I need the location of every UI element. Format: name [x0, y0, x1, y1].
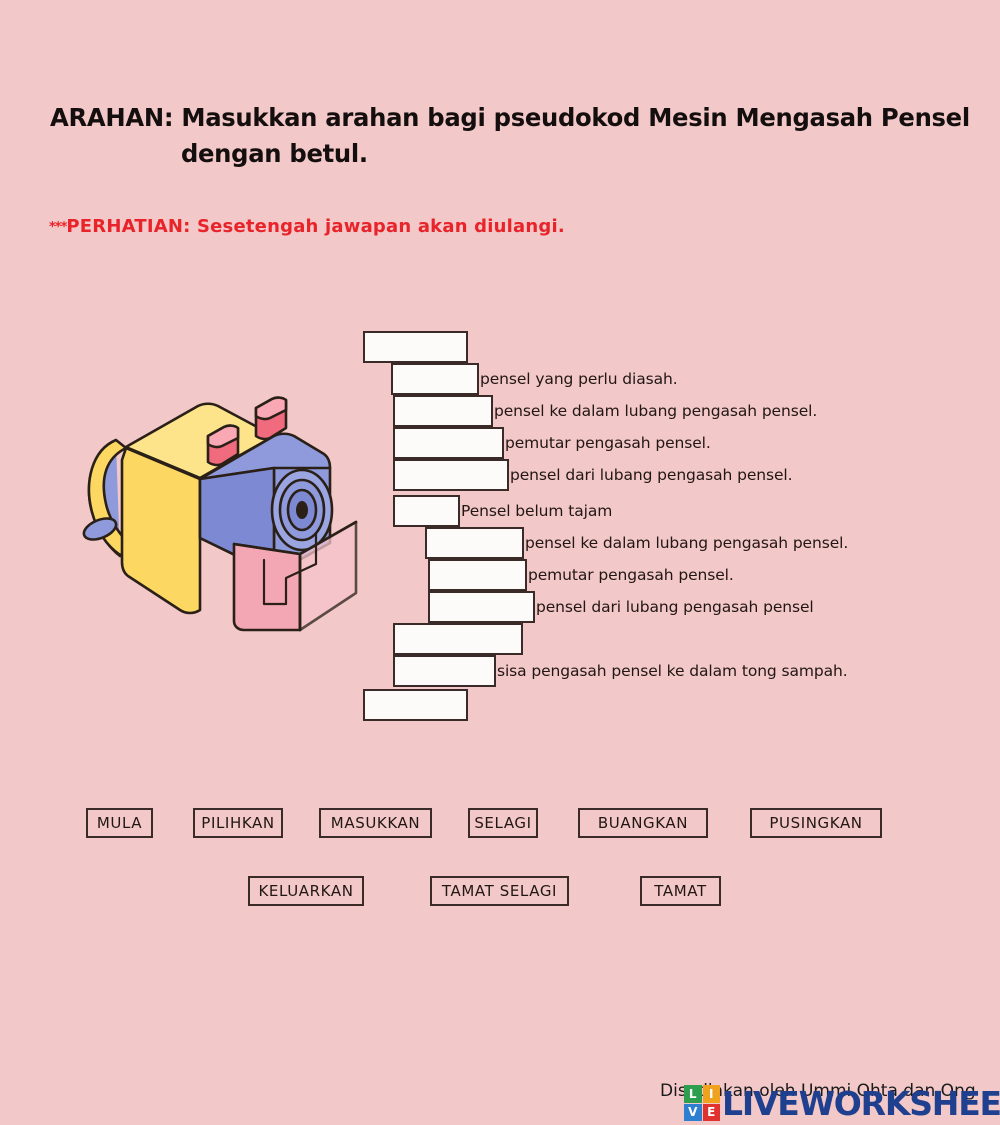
pseudocode-row: pensel ke dalam lubang pengasah pensel. [393, 394, 817, 428]
attention-note: ***PERHATIAN: Sesetengah jawapan akan di… [49, 216, 565, 237]
pseudocode-row-text: pensel yang perlu diasah. [480, 370, 678, 388]
page-title: ARAHAN: Masukkan arahan bagi pseudokod M… [50, 100, 950, 172]
pseudocode-row: pemutar pengasah pensel. [393, 426, 711, 460]
pseudocode-row: pensel ke dalam lubang pengasah pensel. [425, 526, 848, 560]
liveworksheets-watermark: LIVE LIVEWORKSHEETS [684, 1082, 1000, 1124]
attention-stars: *** [49, 220, 66, 235]
answer-input-box[interactable] [393, 623, 523, 655]
pseudocode-row: sisa pengasah pensel ke dalam tong sampa… [393, 654, 848, 688]
word-bank-chip[interactable]: SELAGI [468, 808, 538, 838]
pseudocode-row-text: sisa pengasah pensel ke dalam tong sampa… [497, 662, 848, 680]
pseudocode-row [363, 688, 468, 722]
liveworksheets-wordmark: LIVEWORKSHEETS [722, 1087, 1000, 1120]
attention-text: PERHATIAN: Sesetengah jawapan akan diula… [66, 216, 564, 237]
pencil-sharpener-illustration [48, 378, 358, 643]
instruction-line-2: dengan betul. [50, 136, 923, 172]
pseudocode-row-text: Pensel belum tajam [461, 502, 612, 520]
answer-input-box[interactable] [393, 655, 496, 687]
word-bank-chip[interactable]: PILIHKAN [193, 808, 283, 838]
pseudocode-row-text: pensel dari lubang pengasah pensel. [510, 466, 792, 484]
pseudocode-row-text: pensel dari lubang pengasah pensel [536, 598, 814, 616]
pseudocode-row: Pensel belum tajam [393, 494, 612, 528]
word-bank-chip[interactable]: KELUARKAN [248, 876, 364, 906]
logo-cell-i-icon: I [703, 1085, 721, 1103]
logo-cell-e-icon: E [703, 1104, 721, 1122]
logo-cell-l-icon: L [684, 1085, 702, 1103]
answer-input-box[interactable] [393, 459, 509, 491]
answer-input-box[interactable] [428, 559, 527, 591]
answer-input-box[interactable] [425, 527, 524, 559]
pseudocode-row [393, 622, 523, 656]
word-bank-chip[interactable]: MULA [86, 808, 153, 838]
liveworksheets-logo-icon: LIVE [684, 1085, 720, 1121]
word-bank-chip[interactable]: TAMAT SELAGI [430, 876, 569, 906]
pseudocode-row-text: pemutar pengasah pensel. [528, 566, 734, 584]
pseudocode-row: pensel dari lubang pengasah pensel [428, 590, 814, 624]
pseudocode-row-text: pemutar pengasah pensel. [505, 434, 711, 452]
pseudocode-row: pensel dari lubang pengasah pensel. [393, 458, 792, 492]
pseudocode-row-text: pensel ke dalam lubang pengasah pensel. [525, 534, 848, 552]
pseudocode-row: pensel yang perlu diasah. [391, 362, 678, 396]
answer-input-box[interactable] [393, 427, 504, 459]
word-bank-chip[interactable]: BUANGKAN [578, 808, 708, 838]
pseudocode-row-text: pensel ke dalam lubang pengasah pensel. [494, 402, 817, 420]
answer-input-box[interactable] [363, 331, 468, 363]
word-bank-chip[interactable]: TAMAT [640, 876, 721, 906]
instruction-line-1: ARAHAN: Masukkan arahan bagi pseudokod M… [50, 100, 923, 136]
pseudocode-row: pemutar pengasah pensel. [428, 558, 734, 592]
answer-input-box[interactable] [428, 591, 535, 623]
answer-input-box[interactable] [391, 363, 479, 395]
logo-cell-v-icon: V [684, 1104, 702, 1122]
word-bank-chip[interactable]: MASUKKAN [319, 808, 432, 838]
word-bank-chip[interactable]: PUSINGKAN [750, 808, 882, 838]
pseudocode-row [363, 330, 468, 364]
answer-input-box[interactable] [393, 495, 460, 527]
answer-input-box[interactable] [363, 689, 468, 721]
answer-input-box[interactable] [393, 395, 493, 427]
